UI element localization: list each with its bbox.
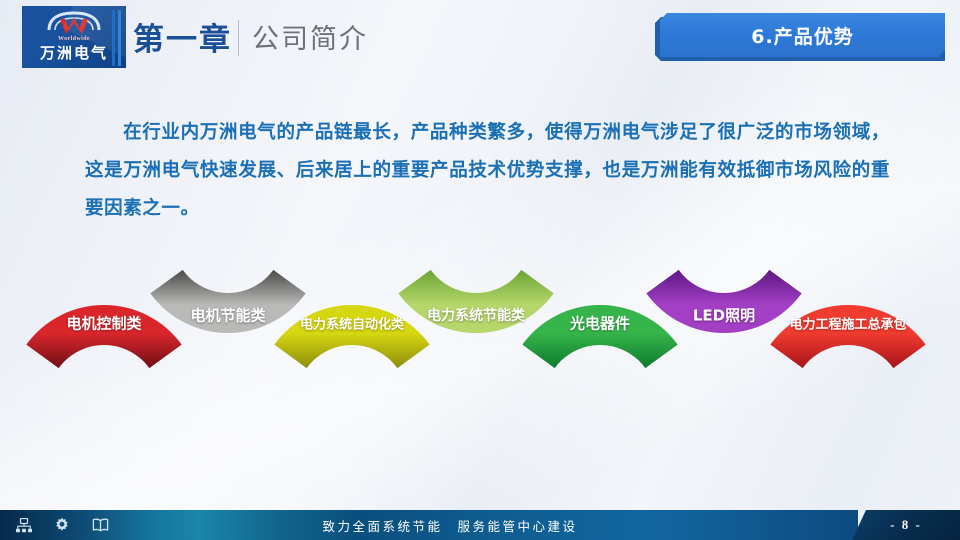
chapter-title: 第一章 bbox=[133, 14, 232, 59]
chapter-divider bbox=[238, 20, 239, 56]
slide-footer: 致力全面系统节能 服务能管中心建设 - 8 - bbox=[0, 510, 960, 540]
wave-segment-label: 电力系统节能类 bbox=[427, 305, 525, 325]
product-chain-wave: 电机控制类电机节能类电力系统自动化类电力系统节能类光电器件LED照明电力工程施工… bbox=[0, 255, 960, 385]
section-badge: 6.产品优势 bbox=[655, 13, 945, 61]
wave-segment-label: 电力工程施工总承包 bbox=[789, 314, 906, 333]
w-shield-icon bbox=[22, 11, 126, 37]
footer-slogan: 致力全面系统节能 服务能管中心建设 bbox=[0, 510, 960, 540]
page-number: - 8 - bbox=[852, 510, 960, 540]
header-accent-bars bbox=[112, 10, 122, 66]
section-badge-body: 6.产品优势 bbox=[660, 13, 945, 57]
section-badge-label: 6.产品优势 bbox=[751, 22, 853, 49]
wave-segment-label: 电机控制类 bbox=[66, 313, 141, 334]
chapter-subtitle: 公司简介 bbox=[252, 17, 368, 56]
wave-segment-label: 电力系统自动化类 bbox=[300, 314, 404, 333]
logo-company-name: 万洲电气 bbox=[22, 42, 126, 63]
slide-header: Worldwide 万洲电气 第一章 公司简介 6.产品优势 bbox=[0, 0, 960, 78]
slide-canvas: Worldwide 万洲电气 第一章 公司简介 6.产品优势 在行业内万洲电气的… bbox=[0, 0, 960, 540]
wave-segment-label: 光电器件 bbox=[570, 313, 630, 334]
company-logo: Worldwide 万洲电气 bbox=[22, 6, 126, 68]
body-paragraph: 在行业内万洲电气的产品链最长，产品种类繁多，使得万洲电气涉足了很广泛的市场领域，… bbox=[85, 114, 890, 228]
body-paragraph-text: 在行业内万洲电气的产品链最长，产品种类繁多，使得万洲电气涉足了很广泛的市场领域，… bbox=[85, 122, 890, 219]
wave-segment-label: LED照明 bbox=[693, 305, 755, 326]
wave-segment-label: 电机节能类 bbox=[190, 305, 265, 326]
